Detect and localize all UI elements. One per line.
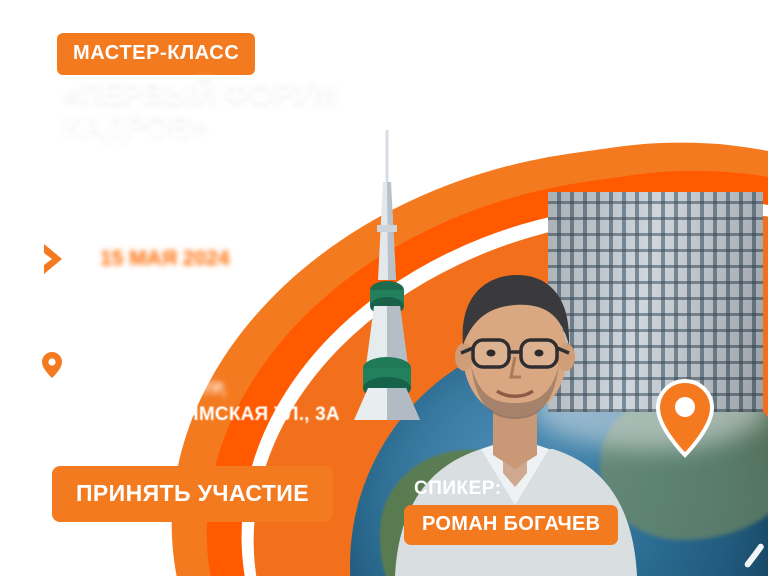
map-pin-icon: [42, 352, 62, 378]
participate-button[interactable]: ПРИНЯТЬ УЧАСТИЕ: [52, 466, 333, 522]
event-address: Г. МОСКВА, УЧЕБНЫЙ ЦЕНТР, ТВЕРСКАЯ-ЯМСКА…: [74, 350, 340, 430]
location-marker-icon: [654, 378, 716, 458]
event-date-row: 15 МАЯ 2024: [42, 240, 286, 278]
event-place-row: Г. МОСКВА, УЧЕБНЫЙ ЦЕНТР, ТВЕРСКАЯ-ЯМСКА…: [42, 350, 340, 430]
chevron-right-icon: [42, 242, 68, 276]
address-line-3: ТВЕРСКАЯ-ЯМСКАЯ УЛ., 3А: [74, 401, 340, 430]
speaker-name-badge: РОМАН БОГАЧЕВ: [404, 505, 618, 545]
page-subtitle: ПО УЧЕБНОМУ ЦЕНТРУ: [63, 128, 423, 152]
masterclass-badge: МАСТЕР-КЛАСС: [57, 33, 255, 75]
address-line-1: Г. МОСКВА,: [74, 350, 340, 376]
address-line-2: УЧЕБНЫЙ ЦЕНТР,: [74, 376, 340, 402]
event-date-value: 15 МАЯ 2024: [82, 240, 286, 278]
promo-banner: МАСТЕР-КЛАСС «ПЕРВЫЙ ФОРУМ КАДРОВ» ПО УЧ…: [0, 0, 768, 576]
speaker-label: СПИКЕР:: [414, 478, 502, 500]
